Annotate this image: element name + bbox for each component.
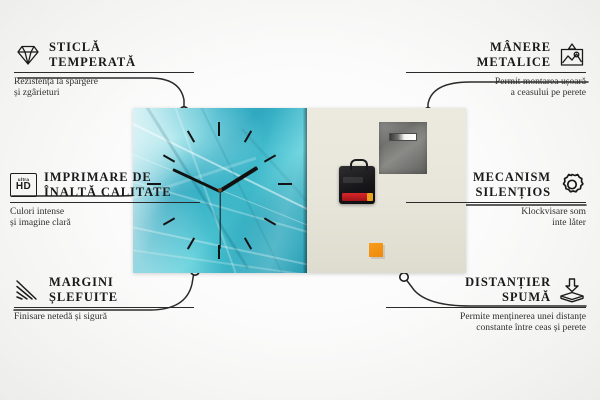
feature-title-line1: MARGINI [49, 275, 118, 290]
clock-movement [339, 166, 375, 204]
hd-badge-main-label: HD [16, 182, 31, 192]
feature-title-line2: ÎNALTĂ CALITATE [44, 185, 172, 200]
feature-title-line2: SILENȚIOS [473, 185, 551, 200]
battery-positive-terminal [367, 193, 373, 201]
feature-desc-line2: a ceasului pe perete [406, 87, 586, 98]
feature-title-line1: MÂNERE [477, 40, 551, 55]
feature-silent-mechanism: MECANISM SILENȚIOS Klockvisare som inte … [406, 170, 586, 229]
feature-divider [14, 72, 194, 73]
metal-hanger-plate [379, 122, 427, 174]
feature-title-line1: IMPRIMARE DE [44, 170, 172, 185]
gear-icon [558, 172, 586, 198]
feature-desc-line1: Culori intense [10, 206, 200, 217]
feature-metal-handles: MÂNERE METALICE Permit montarea ușoară a… [406, 40, 586, 99]
feature-title-line1: DISTANȚIER [465, 275, 551, 290]
clock-tick [218, 122, 220, 136]
feature-hd-print: ultra HD IMPRIMARE DE ÎNALTĂ CALITATE Cu… [10, 170, 200, 229]
feature-divider [406, 72, 586, 73]
feature-title-line1: MECANISM [473, 170, 551, 185]
feature-title-line2: METALICE [477, 55, 551, 70]
feature-desc-line1: Finisare netedă și sigură [14, 311, 194, 322]
feature-divider [14, 307, 194, 308]
feature-desc-line2: constante între ceas și perete [386, 322, 586, 333]
feature-desc-line2: și zgârieturi [14, 87, 194, 98]
diamond-icon [14, 43, 42, 67]
feature-desc-line2: și imagine clară [10, 217, 200, 228]
feature-title-line2: ȘLEFUITE [49, 290, 118, 305]
foam-spacer-pad [369, 243, 383, 257]
movement-label [343, 177, 363, 183]
feature-divider [386, 307, 586, 308]
infographic-canvas: STICLĂ TEMPERATĂ Rezistență la spargere … [0, 0, 600, 400]
polished-edge-icon [14, 278, 42, 302]
clock-tick [278, 183, 292, 185]
clock-center-hub [218, 188, 222, 192]
ultra-hd-badge-icon: ultra HD [10, 173, 37, 197]
feature-desc-line1: Klockvisare som [406, 206, 586, 217]
picture-frame-hanger-icon [558, 42, 586, 68]
feature-title-line2: TEMPERATĂ [49, 55, 136, 70]
foam-spacer-icon [558, 277, 586, 303]
feature-divider [406, 202, 586, 203]
movement-hanging-loop [350, 159, 368, 170]
movement-battery [342, 193, 372, 201]
feature-desc-line1: Permite menținerea unei distanțe [386, 311, 586, 322]
feature-foam-spacer: DISTANȚIER SPUMĂ Permite menținerea unei… [386, 275, 586, 334]
feature-polished-edges: MARGINI ȘLEFUITE Finisare netedă și sigu… [14, 275, 194, 322]
feature-divider [10, 202, 200, 203]
feature-title-line1: STICLĂ [49, 40, 136, 55]
clock-second-hand [219, 191, 220, 249]
hanger-slot [389, 133, 417, 141]
feature-desc-line1: Rezistență la spargere [14, 76, 194, 87]
feature-desc-line1: Permit montarea ușoară [406, 76, 586, 87]
feature-desc-line2: inte låter [406, 217, 586, 228]
feature-tempered-glass: STICLĂ TEMPERATĂ Rezistență la spargere … [14, 40, 194, 99]
feature-title-line2: SPUMĂ [465, 290, 551, 305]
